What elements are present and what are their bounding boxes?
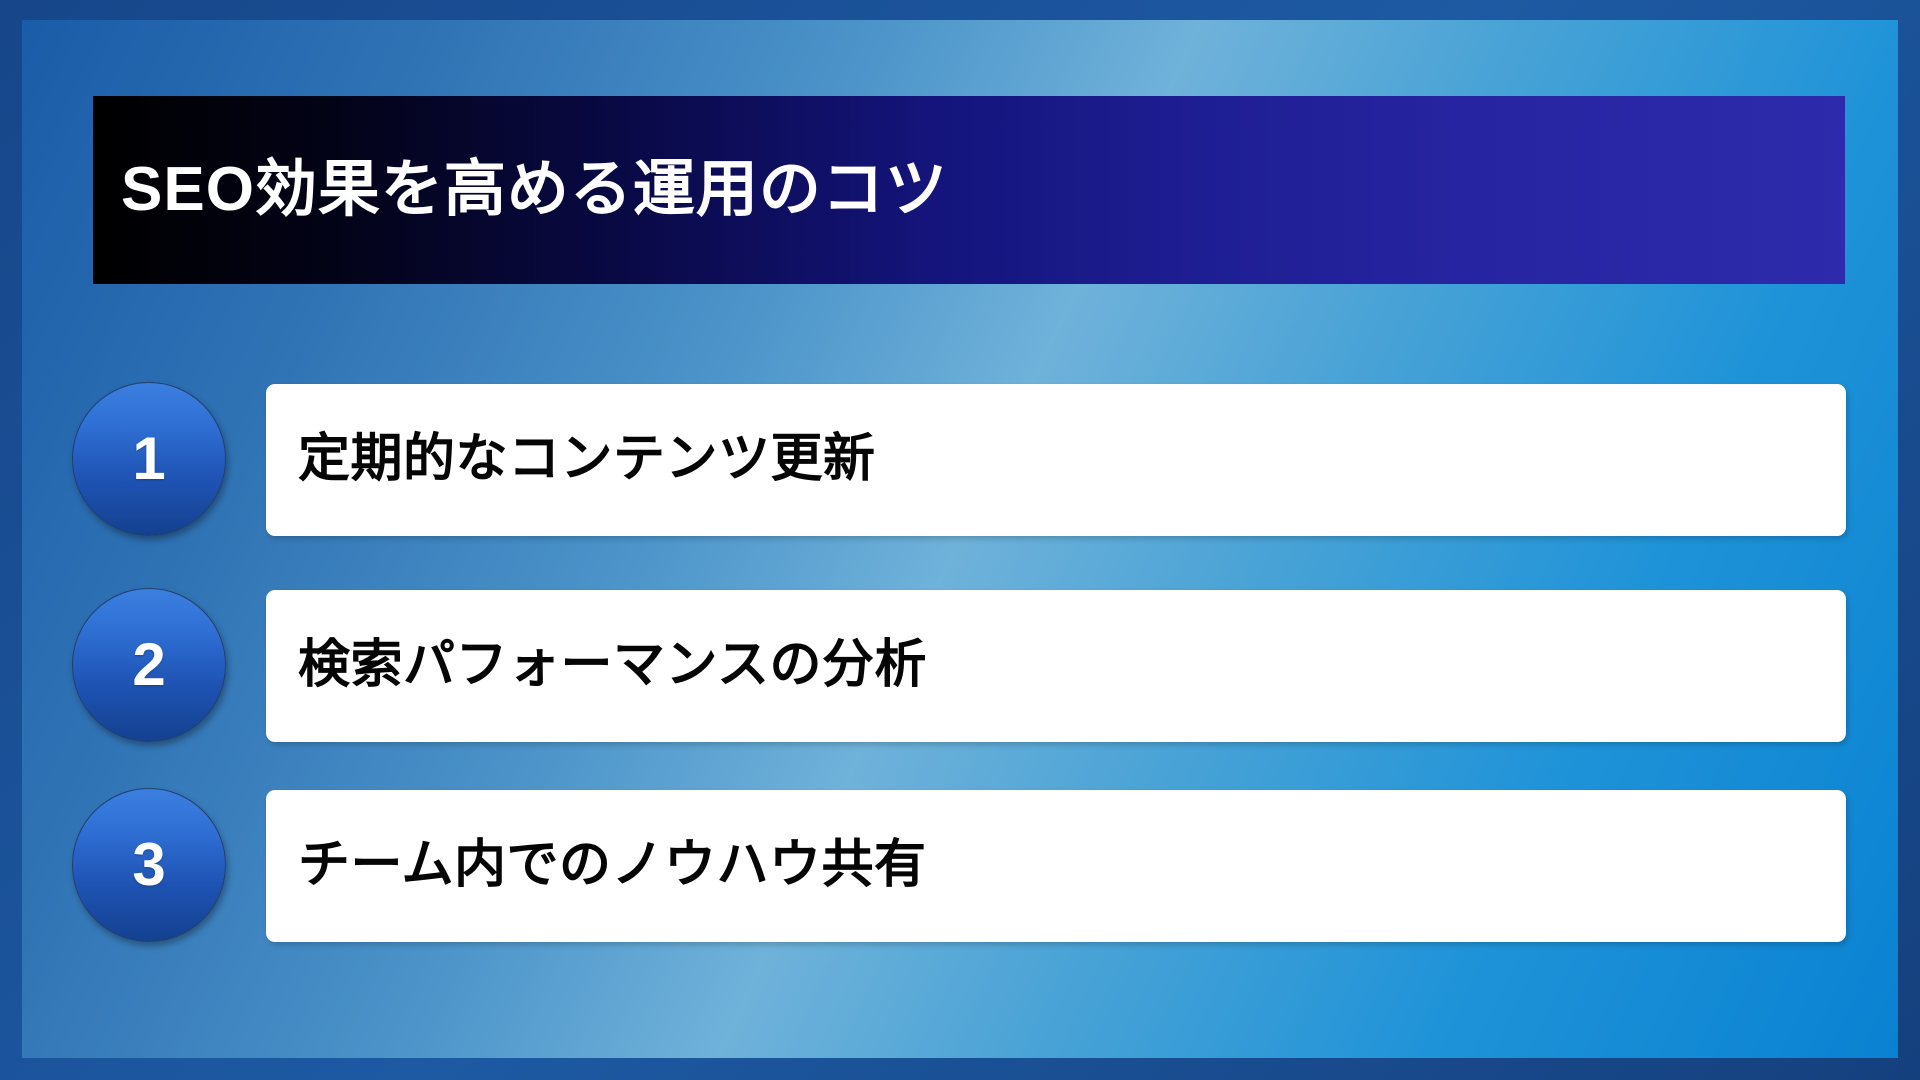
numbered-list: 1 定期的なコンテンツ更新 2 検索パフォーマンスの分析 3 チーム内でのノウハ…: [0, 0, 1920, 1080]
list-item-card-1[interactable]: 定期的なコンテンツ更新: [266, 384, 1846, 536]
number-badge-label: 1: [132, 429, 165, 489]
list-item-card-3[interactable]: チーム内でのノウハウ共有: [266, 790, 1846, 942]
list-item[interactable]: 1 定期的なコンテンツ更新: [0, 382, 1920, 538]
number-badge-1: 1: [72, 382, 226, 536]
slide-root: SEO効果を高める運用のコツ 1 定期的なコンテンツ更新 2 検索パフォーマンス…: [0, 0, 1920, 1080]
list-item-label: 定期的なコンテンツ更新: [298, 430, 876, 490]
list-item-card-2[interactable]: 検索パフォーマンスの分析: [266, 590, 1846, 742]
number-badge-label: 3: [132, 835, 165, 895]
list-item[interactable]: 3 チーム内でのノウハウ共有: [0, 788, 1920, 944]
number-badge-2: 2: [72, 588, 226, 742]
number-badge-label: 2: [132, 635, 165, 695]
list-item[interactable]: 2 検索パフォーマンスの分析: [0, 588, 1920, 744]
list-item-label: チーム内でのノウハウ共有: [298, 836, 926, 896]
number-badge-3: 3: [72, 788, 226, 942]
list-item-label: 検索パフォーマンスの分析: [298, 636, 927, 696]
